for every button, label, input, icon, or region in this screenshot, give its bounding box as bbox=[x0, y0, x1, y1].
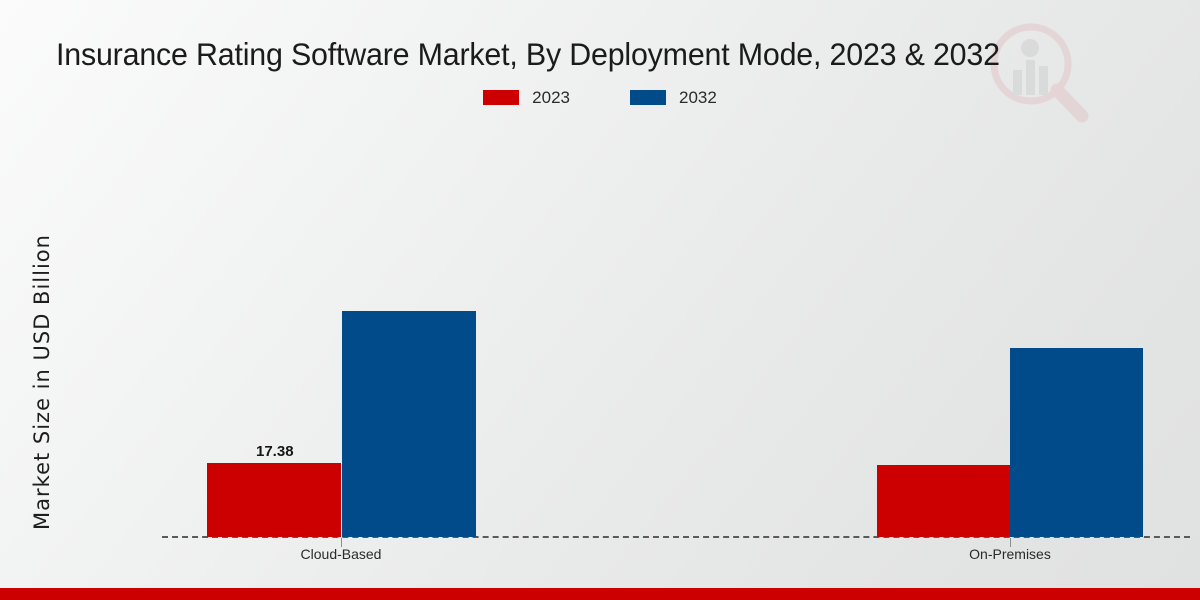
bar-2023-on-premises[interactable] bbox=[877, 465, 1010, 537]
footer-accent-bar bbox=[0, 588, 1200, 600]
bar-2032-on-premises[interactable] bbox=[1010, 348, 1143, 537]
plot-area: 17.38 Cloud-Based On-Premises bbox=[0, 0, 1200, 600]
x-axis-label-on-premises: On-Premises bbox=[930, 546, 1090, 562]
chart-canvas: Insurance Rating Software Market, By Dep… bbox=[0, 0, 1200, 600]
x-axis-label-cloud-based: Cloud-Based bbox=[261, 546, 421, 562]
bar-value-label-2023-cloud-based: 17.38 bbox=[256, 443, 294, 460]
bar-2032-cloud-based[interactable] bbox=[342, 311, 476, 537]
bar-2023-cloud-based[interactable] bbox=[207, 463, 341, 537]
